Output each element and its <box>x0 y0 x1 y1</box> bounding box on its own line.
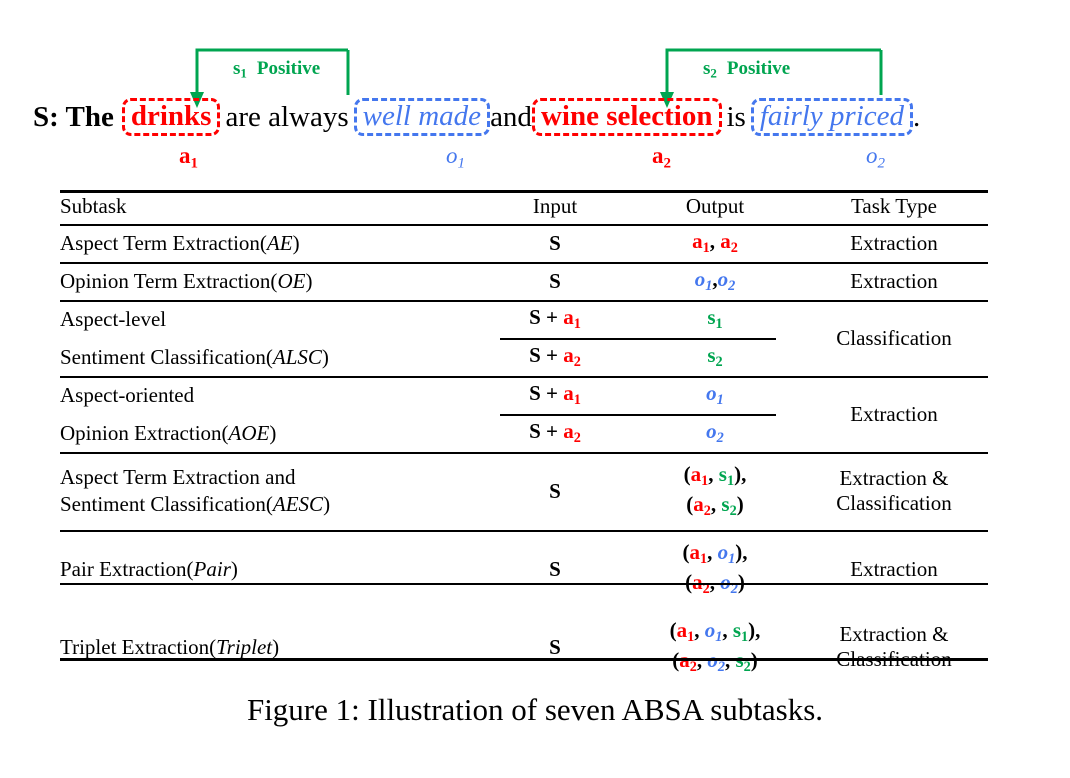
tasktype-triplet: Extraction & Classification <box>800 608 988 686</box>
sentiment-arc-label-1: s1Positive <box>233 58 320 82</box>
sentiment-subscript: 2 <box>710 66 717 81</box>
polarity-label: Positive <box>727 58 790 79</box>
table-row-oe: Opinion Term Extraction(OE) S o1,o2 Extr… <box>60 262 988 300</box>
table-row-alsc-1: Aspect-level S + a1 s1 Classification <box>60 300 988 338</box>
table-row-aesc: Aspect Term Extraction and Sentiment Cla… <box>60 452 988 530</box>
table-rule-under-alsc <box>60 376 988 378</box>
input-ae: S <box>480 224 630 262</box>
sentence-mid-3: is <box>727 101 746 134</box>
example-sentence: S: The drinks are always well made and w… <box>33 96 920 138</box>
table-rule-under-oe <box>60 300 988 302</box>
tasktype-aesc-line2: Classification <box>800 491 988 516</box>
table-rule-under-pair <box>60 583 988 585</box>
sentiment-arc-group <box>0 0 1070 186</box>
role-label-o1: o1 <box>446 143 465 173</box>
role-label-a2: a2 <box>652 143 671 173</box>
tasktype-pair: Extraction <box>800 530 988 608</box>
output-pair: (a1, o1), (a2, o2) <box>630 530 800 608</box>
sentence-suffix: . <box>913 101 920 134</box>
subtask-name-aoe-line1: Aspect-oriented <box>60 376 480 414</box>
table-row-aoe-1: Aspect-oriented S + a1 o1 Extraction <box>60 376 988 414</box>
input-aoe-1: S + a1 <box>480 376 630 414</box>
output-aesc: (a1, s1), (a2, s2) <box>630 452 800 530</box>
tasktype-triplet-line1: Extraction & <box>800 622 988 647</box>
output-pair-line1: (a1, o1), <box>630 539 800 569</box>
table-rule-under-ae <box>60 262 988 264</box>
output-alsc-1: s1 <box>630 300 800 338</box>
subtask-name-pair: Pair Extraction(Pair) <box>60 530 480 608</box>
output-oe: o1,o2 <box>630 262 800 300</box>
opinion-term-1: well made <box>354 98 490 136</box>
sentiment-arc-label-2: s2Positive <box>703 58 790 82</box>
tasktype-alsc: Classification <box>800 300 988 376</box>
subtask-name-triplet: Triplet Extraction(Triplet) <box>60 608 480 686</box>
output-triplet-line1: (a1, o1, s1), <box>630 617 800 647</box>
input-triplet: S <box>480 608 630 686</box>
header-input: Input <box>480 188 630 224</box>
output-triplet: (a1, o1, s1), (a2, o2, s2) <box>630 608 800 686</box>
input-alsc-1: S + a1 <box>480 300 630 338</box>
tasktype-aoe: Extraction <box>800 376 988 452</box>
output-aesc-line1: (a1, s1), <box>630 461 800 491</box>
subtask-name-alsc-line1: Aspect-level <box>60 300 480 338</box>
tasktype-aesc-line1: Extraction & <box>800 466 988 491</box>
output-aoe-2: o2 <box>630 414 800 452</box>
input-oe: S <box>480 262 630 300</box>
aspect-term-2: wine selection <box>532 98 722 136</box>
header-subtask: Subtask <box>60 188 480 224</box>
table-rule-partial-aoe <box>500 414 776 416</box>
sentence-mid-2: and <box>490 101 532 134</box>
role-label-o2: o2 <box>866 143 885 173</box>
tasktype-ae: Extraction <box>800 224 988 262</box>
input-aoe-2: S + a2 <box>480 414 630 452</box>
output-triplet-line2: (a2, o2, s2) <box>630 647 800 677</box>
table-row-pair: Pair Extraction(Pair) S (a1, o1), (a2, o… <box>60 530 988 608</box>
sentiment-subscript: 1 <box>240 66 247 81</box>
output-alsc-2: s2 <box>630 338 800 376</box>
table-rule-under-aesc <box>60 530 988 532</box>
tasktype-oe: Extraction <box>800 262 988 300</box>
role-label-a1: a1 <box>179 143 198 173</box>
table-rule-partial-alsc <box>500 338 776 340</box>
table-rule-bottom <box>60 658 988 661</box>
figure-caption: Figure 1: Illustration of seven ABSA sub… <box>0 692 1070 728</box>
aspect-term-1: drinks <box>122 98 221 136</box>
header-task-type: Task Type <box>800 188 988 224</box>
sentence-prefix: S: The <box>33 101 114 134</box>
input-alsc-2: S + a2 <box>480 338 630 376</box>
annotation-figure: s1Positive s2Positive S: The drinks are … <box>0 0 1070 186</box>
output-aesc-line2: (a2, s2) <box>630 491 800 521</box>
table-rule-under-aoe <box>60 452 988 454</box>
output-ae: a1, a2 <box>630 224 800 262</box>
tasktype-aesc: Extraction & Classification <box>800 452 988 530</box>
subtask-name-alsc-line2: Sentiment Classification(ALSC) <box>60 338 480 376</box>
header-output: Output <box>630 188 800 224</box>
subtask-name-aesc: Aspect Term Extraction and Sentiment Cla… <box>60 452 480 530</box>
subtask-name-aesc-line1: Aspect Term Extraction and <box>60 464 480 491</box>
subtask-name-ae: Aspect Term Extraction(AE) <box>60 224 480 262</box>
table-row-ae: Aspect Term Extraction(AE) S a1, a2 Extr… <box>60 224 988 262</box>
output-aoe-1: o1 <box>630 376 800 414</box>
opinion-term-2: fairly priced <box>751 98 913 136</box>
input-aesc: S <box>480 452 630 530</box>
table-header-row: Subtask Input Output Task Type <box>60 188 988 224</box>
subtask-name-aesc-line2: Sentiment Classification(AESC) <box>60 491 480 518</box>
input-pair: S <box>480 530 630 608</box>
polarity-label: Positive <box>257 58 320 79</box>
sentence-mid-1: are always <box>225 101 348 134</box>
subtask-name-aoe-line2: Opinion Extraction(AOE) <box>60 414 480 452</box>
table-rule-under-header <box>60 224 988 226</box>
table-row-triplet: Triplet Extraction(Triplet) S (a1, o1, s… <box>60 608 988 686</box>
subtask-name-oe: Opinion Term Extraction(OE) <box>60 262 480 300</box>
